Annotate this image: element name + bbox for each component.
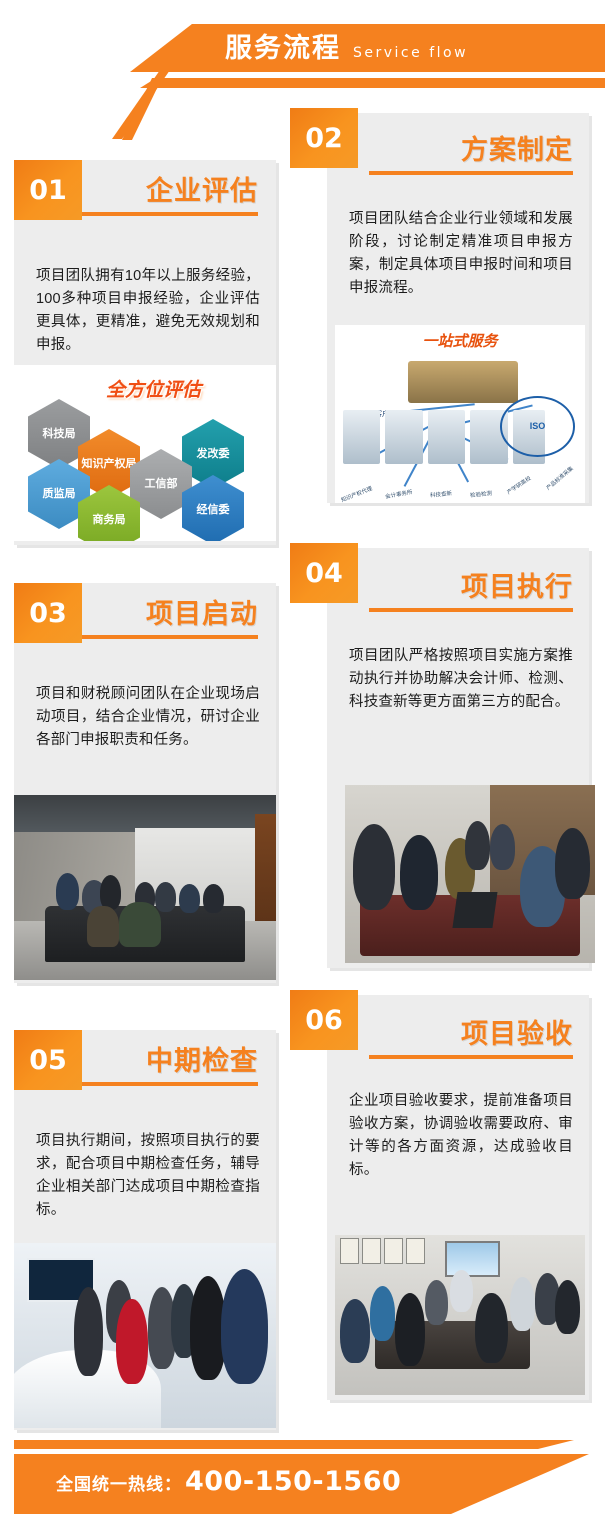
step-badge-02: 02	[290, 108, 358, 168]
title-rule-03	[60, 635, 258, 639]
step-badge-05: 05	[14, 1030, 82, 1090]
card-title-block-03: 项目启动	[58, 597, 258, 639]
hotline-label: 全国统一热线：	[56, 1470, 182, 1495]
card-title-03: 项目启动	[58, 597, 258, 631]
page-footer: 全国统一热线： 400-150-1560	[0, 1428, 605, 1538]
card-title-06: 项目验收	[368, 1017, 573, 1051]
service-map-image: 一站式服务 客户 项目经理 ISO 知识产权代理 会计事务所 科技查新 检验检测…	[335, 325, 585, 503]
step-badge-01: 01	[14, 160, 82, 220]
title-rule-01	[60, 212, 258, 216]
step-photo-06	[335, 1235, 585, 1395]
hex-label: 发改委	[197, 448, 230, 461]
iso-seal-icon: ISO	[500, 396, 575, 457]
footer-hotline-group: 全国统一热线： 400-150-1560	[56, 1466, 401, 1497]
footer-accent-line	[14, 1440, 574, 1449]
card-title-05: 中期检查	[58, 1044, 258, 1078]
card-title-block-05: 中期检查	[58, 1044, 258, 1086]
step-photo-03	[14, 795, 276, 980]
card-title-block-02: 方案制定	[368, 133, 573, 175]
hex-label: 知识产权局	[82, 458, 137, 471]
card-title-block-04: 项目执行	[368, 570, 573, 612]
card-title-block-06: 项目验收	[368, 1017, 573, 1059]
assessment-hexagon-diagram: 全方位评估 科技局 知识产权局 发改委 质监局 工信部 经信委 商务局	[14, 365, 276, 541]
card-title-block-01: 企业评估	[58, 174, 258, 216]
page-subtitle: Service flow	[353, 45, 468, 61]
card-body-01: 项目团队拥有10年以上服务经验，100多种项目申报经验，企业评估更具体，更精准，…	[36, 265, 260, 357]
card-title-02: 方案制定	[368, 133, 573, 167]
infographic-page: 服务流程 Service flow 企业评估 项目团队拥有10年以上服务经验，1…	[0, 0, 605, 1538]
hotline-number[interactable]: 400-150-1560	[185, 1466, 401, 1497]
step-badge-06: 06	[290, 990, 358, 1050]
card-body-05: 项目执行期间，按照项目执行的要求，配合项目中期检查任务，辅导企业相关部门达成项目…	[36, 1130, 260, 1222]
title-rule-02	[369, 171, 573, 175]
title-rule-06	[369, 1055, 573, 1059]
hex-label: 科技局	[43, 428, 76, 441]
service-map-thumb	[428, 410, 466, 463]
page-header: 服务流程 Service flow	[0, 0, 605, 108]
step-badge-03: 03	[14, 583, 82, 643]
card-title-01: 企业评估	[58, 174, 258, 208]
hex-label: 经信委	[197, 504, 230, 517]
service-map-hero-photo	[408, 361, 518, 404]
step-photo-04	[345, 785, 595, 963]
step-photo-05	[14, 1243, 276, 1428]
page-title: 服务流程	[225, 30, 341, 66]
step-badge-04: 04	[290, 543, 358, 603]
title-rule-04	[369, 608, 573, 612]
card-title-04: 项目执行	[368, 570, 573, 604]
service-map-thumb	[385, 410, 423, 463]
service-map-title: 一站式服务	[335, 330, 585, 351]
hex-label: 商务局	[93, 514, 126, 527]
hex-label: 工信部	[145, 478, 178, 491]
header-underline	[140, 78, 605, 88]
card-body-02: 项目团队结合企业行业领域和发展阶段，讨论制定精准项目申报方案，制定具体项目申报时…	[349, 208, 573, 300]
title-rule-05	[60, 1082, 258, 1086]
service-map-thumb	[343, 410, 381, 463]
diagram-title: 全方位评估	[106, 375, 201, 402]
card-body-04: 项目团队严格按照项目实施方案推动执行并协助解决会计师、检测、科技查新等更方面第三…	[349, 645, 573, 714]
header-title-group: 服务流程 Service flow	[225, 30, 468, 66]
card-body-06: 企业项目验收要求，提前准备项目验收方案，协调验收需要政府、审计等的各方面资源，达…	[349, 1090, 573, 1182]
hex-label: 质监局	[43, 488, 76, 501]
card-body-03: 项目和财税顾问团队在企业现场启动项目，结合企业情况，研讨企业各部门申报职责和任务…	[36, 683, 260, 752]
